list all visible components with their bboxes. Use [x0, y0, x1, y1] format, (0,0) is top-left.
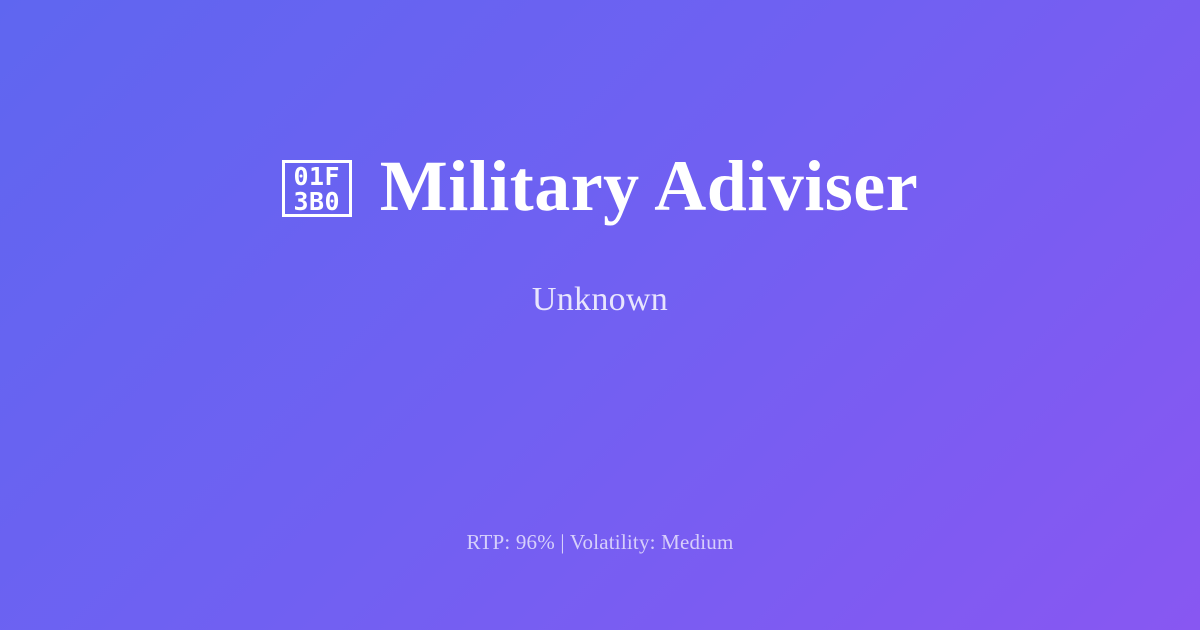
slot-machine-emoji-missing-glyph-icon: 01F 3B0 — [282, 160, 352, 217]
page-title: Military Adiviser — [380, 149, 918, 225]
og-card: 01F 3B0 Military Adiviser Unknown RTP: 9… — [0, 0, 1200, 630]
title-row: 01F 3B0 Military Adiviser — [60, 149, 1140, 225]
glyph-codepoint-lower: 3B0 — [293, 189, 340, 214]
hero-section: 01F 3B0 Military Adiviser Unknown — [0, 0, 1200, 470]
game-meta-line: RTP: 96% | Volatility: Medium — [467, 530, 734, 554]
page-subtitle: Unknown — [532, 280, 668, 321]
glyph-codepoint-upper: 01F — [293, 164, 340, 189]
meta-footer: RTP: 96% | Volatility: Medium — [0, 529, 1200, 555]
